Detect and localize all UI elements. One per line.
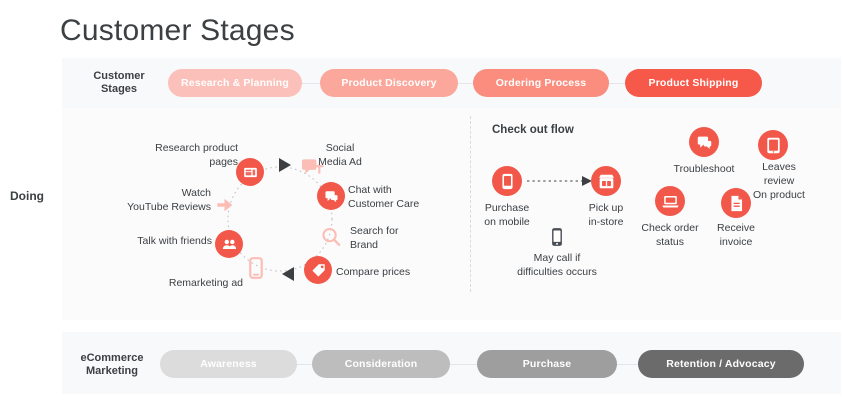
search-for-brand-node[interactable] bbox=[320, 226, 343, 249]
leaves-review-on-product-label: Leaves review On product bbox=[747, 160, 811, 202]
marketing-pill-purchase[interactable]: Purchase bbox=[477, 350, 617, 378]
search-icon bbox=[320, 226, 343, 249]
receive-invoice-node[interactable] bbox=[721, 188, 751, 218]
arrow-to-remarketing bbox=[282, 267, 294, 281]
chat-with-customer-care-label: Chat with Customer Care bbox=[348, 183, 419, 211]
remarketing-ad-label: Remarketing ad bbox=[169, 276, 243, 290]
pill-connector bbox=[450, 364, 477, 365]
cellphone-outline-icon bbox=[547, 227, 568, 248]
document-icon bbox=[721, 188, 751, 218]
talk-with-friends-label: Talk with friends bbox=[137, 234, 212, 248]
page-title: Customer Stages bbox=[60, 14, 295, 48]
research-product-pages-node[interactable] bbox=[236, 158, 264, 186]
compare-prices-label: Compare prices bbox=[336, 265, 410, 279]
pill-label: Product Shipping bbox=[649, 77, 739, 89]
pill-label: Retention / Advocacy bbox=[666, 358, 775, 370]
check-order-status-label: Check order status bbox=[641, 221, 698, 249]
watch-youtube-reviews-label: Watch YouTube Reviews bbox=[127, 186, 211, 214]
social-media-ad-label: Social Media Ad bbox=[318, 141, 362, 169]
customer-journey-diagram: Customer Stages Customer Stages Doing eC… bbox=[0, 0, 843, 412]
checkout-flow-heading: Check out flow bbox=[492, 124, 574, 136]
search-for-brand-label: Search for Brand bbox=[350, 224, 398, 252]
doing-row-label: Doing bbox=[10, 190, 70, 203]
stages-pill-product-discovery[interactable]: Product Discovery bbox=[320, 69, 458, 97]
talk-with-friends-node[interactable] bbox=[215, 230, 243, 258]
marketing-pill-awareness[interactable]: Awareness bbox=[160, 350, 297, 378]
phone-icon bbox=[244, 256, 269, 281]
stages-pill-product-shipping[interactable]: Product Shipping bbox=[625, 69, 762, 97]
pick-up-in-store-node[interactable] bbox=[591, 166, 621, 196]
pill-label: Awareness bbox=[200, 358, 257, 370]
article-icon bbox=[236, 158, 264, 186]
stages-pill-research-planning[interactable]: Research & Planning bbox=[168, 69, 302, 97]
chat-icon bbox=[689, 127, 719, 157]
check-order-status-node[interactable] bbox=[655, 186, 685, 216]
pill-connector bbox=[617, 364, 638, 365]
purchase-on-mobile-label: Purchase on mobile bbox=[484, 201, 530, 229]
chat-with-customer-care-node[interactable] bbox=[317, 182, 345, 210]
leaves-review-on-product-node[interactable] bbox=[758, 130, 788, 160]
troubleshoot-node[interactable] bbox=[689, 127, 719, 157]
people-icon bbox=[215, 230, 243, 258]
ecommerce-marketing-row-label: eCommerce Marketing bbox=[66, 352, 158, 378]
troubleshoot-label: Troubleshoot bbox=[674, 162, 735, 176]
marketing-pill-consideration[interactable]: Consideration bbox=[312, 350, 450, 378]
pill-connector bbox=[458, 83, 473, 84]
pill-label: Ordering Process bbox=[496, 77, 587, 89]
may-call-if-difficulties-node[interactable] bbox=[547, 227, 568, 248]
tag-icon bbox=[304, 256, 332, 284]
tablet-icon bbox=[758, 130, 788, 160]
pill-connector bbox=[609, 83, 625, 84]
store-icon bbox=[591, 166, 621, 196]
pill-label: Consideration bbox=[345, 358, 418, 370]
watch-youtube-reviews-node[interactable] bbox=[217, 194, 240, 217]
pick-up-in-store-label: Pick up in-store bbox=[588, 201, 623, 229]
pill-label: Purchase bbox=[523, 358, 571, 370]
pill-label: Research & Planning bbox=[181, 77, 289, 89]
chat-icon bbox=[317, 182, 345, 210]
purchase-on-mobile-node[interactable] bbox=[492, 166, 522, 196]
mobile-icon bbox=[492, 166, 522, 196]
receive-invoice-label: Receive invoice bbox=[717, 221, 755, 249]
remarketing-ad-node[interactable] bbox=[244, 256, 269, 281]
pill-label: Product Discovery bbox=[341, 77, 436, 89]
play-icon bbox=[217, 194, 240, 217]
stages-pill-ordering-process[interactable]: Ordering Process bbox=[473, 69, 609, 97]
laptop-icon bbox=[655, 186, 685, 216]
section-divider bbox=[470, 116, 471, 292]
compare-prices-node[interactable] bbox=[304, 256, 332, 284]
pill-connector bbox=[297, 364, 312, 365]
research-product-pages-label: Research product pages bbox=[155, 141, 238, 169]
arrow-to-social bbox=[279, 158, 291, 172]
marketing-pill-retention-advocacy[interactable]: Retention / Advocacy bbox=[638, 350, 804, 378]
may-call-if-difficulties-label: May call if difficulties occurs bbox=[517, 251, 597, 279]
pill-connector bbox=[302, 83, 320, 84]
customer-stages-row-label: Customer Stages bbox=[78, 70, 160, 96]
